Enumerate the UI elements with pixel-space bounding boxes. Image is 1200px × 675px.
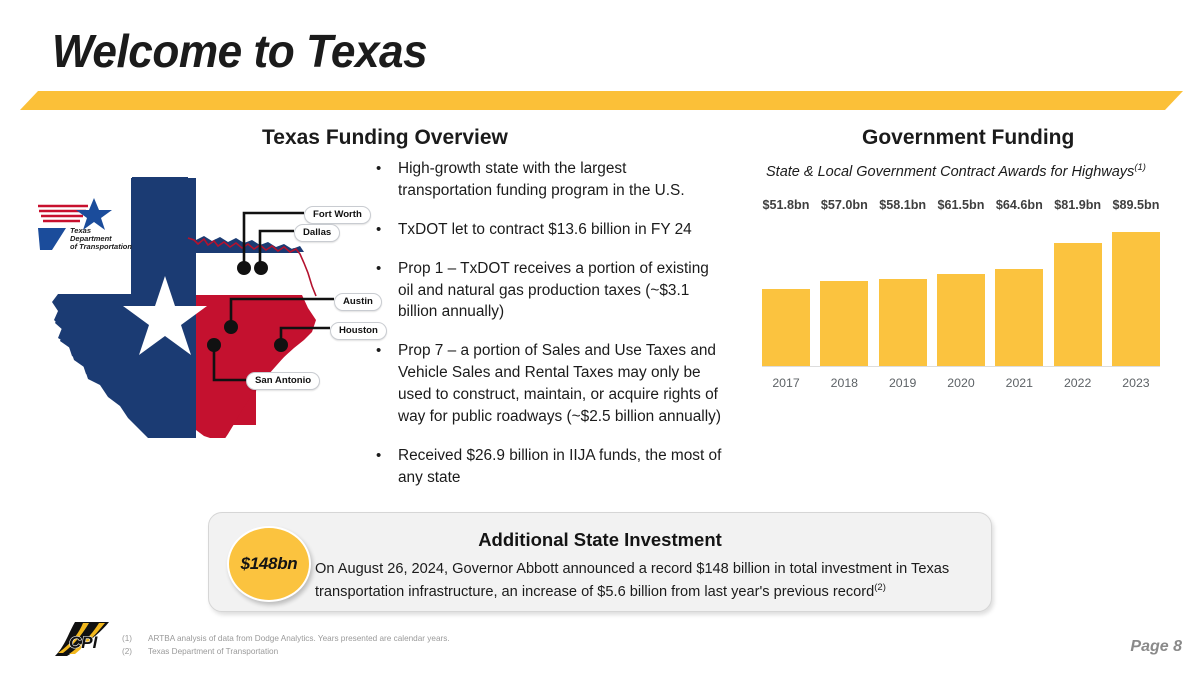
footnote-list: (1) ARTBA analysis of data from Dodge An… [122,633,450,658]
leader-fort-worth [244,213,304,265]
footnote-number: (2) [122,646,148,659]
bullet-dot-icon: • [376,340,398,428]
city-dot-houston [274,338,288,352]
txdot-logo-line3: of Transportation [70,242,132,251]
government-funding-bar-chart: $51.8bn $57.0bn $58.1bn $61.5bn $64.6bn … [762,196,1160,392]
table-row [879,279,927,366]
bar-value-label: $89.5bn [1113,198,1160,212]
bar-column: $51.8bn [762,216,810,366]
chart-x-axis-line [762,366,1160,367]
bar-column: $89.5bn [1112,216,1160,366]
city-label-austin: Austin [334,293,382,311]
footnote-item: (2) Texas Department of Transportation [122,646,450,659]
footnote-text: ARTBA analysis of data from Dodge Analyt… [148,633,450,646]
callout-body-superscript: (2) [874,582,886,593]
list-item: • Received $26.9 billion in IIJA funds, … [376,445,724,489]
x-tick-label: 2022 [1054,376,1102,390]
list-item: • High-growth state with the largest tra… [376,158,724,202]
city-dot-san-antonio [207,338,221,352]
texas-navy-fill-block [131,178,196,296]
bar-column: $58.1bn [879,216,927,366]
bar-value-label: $58.1bn [879,198,926,212]
bar-value-label: $61.5bn [938,198,985,212]
x-tick-label: 2019 [879,376,927,390]
chart-subtitle-superscript: (1) [1134,162,1146,173]
x-tick-label: 2020 [937,376,985,390]
x-tick-label: 2018 [820,376,868,390]
bullet-dot-icon: • [376,219,398,241]
footnote-text: Texas Department of Transportation [148,646,278,659]
city-dot-austin [224,320,238,334]
chart-plot-area: $51.8bn $57.0bn $58.1bn $61.5bn $64.6bn … [762,216,1160,366]
list-item: • Prop 7 – a portion of Sales and Use Ta… [376,340,724,428]
bullet-dot-icon: • [376,158,398,202]
page-number: Page 8 [1130,638,1182,656]
footnote-item: (1) ARTBA analysis of data from Dodge An… [122,633,450,646]
bar-column: $57.0bn [820,216,868,366]
bullet-text: High-growth state with the largest trans… [398,158,724,202]
txdot-stripes [38,206,88,221]
city-dot-dallas [254,261,268,275]
bullet-text: TxDOT let to contract $13.6 billion in F… [398,219,724,241]
chart-x-tick-labels: 2017 2018 2019 2020 2021 2022 2023 [762,376,1160,390]
chart-title: Government Funding [862,126,1074,150]
bar-value-label: $51.8bn [763,198,810,212]
cpi-logo: CPI [53,620,125,660]
x-tick-label: 2023 [1112,376,1160,390]
overview-heading: Texas Funding Overview [262,126,508,150]
list-item: • TxDOT let to contract $13.6 billion in… [376,219,724,241]
bullet-text: Prop 7 – a portion of Sales and Use Taxe… [398,340,724,428]
x-tick-label: 2017 [762,376,810,390]
title-accent-bar [20,91,1183,110]
bar-column: $81.9bn [1054,216,1102,366]
txdot-swoosh [38,228,66,250]
table-row [937,274,985,366]
additional-state-investment-callout: $148bn Additional State Investment On Au… [208,512,992,612]
bar-value-label: $64.6bn [996,198,1043,212]
city-label-fort-worth: Fort Worth [304,206,371,224]
bullet-dot-icon: • [376,445,398,489]
bar-column: $61.5bn [937,216,985,366]
table-row [1054,243,1102,366]
city-label-dallas: Dallas [294,224,340,242]
texas-map: Texas Department of Transportation Fort … [28,168,378,438]
table-row [1112,232,1160,366]
table-row [995,269,1043,366]
bullet-dot-icon: • [376,258,398,324]
callout-body: On August 26, 2024, Governor Abbott anno… [315,558,977,603]
x-tick-label: 2021 [995,376,1043,390]
cpi-logo-text: CPI [69,633,99,652]
city-dot-fort-worth [237,261,251,275]
chart-subtitle: State & Local Government Contract Awards… [766,162,1146,180]
table-row [820,281,868,366]
page-title: Welcome to Texas [52,24,427,78]
callout-body-text: On August 26, 2024, Governor Abbott anno… [315,561,949,600]
city-label-san-antonio: San Antonio [246,372,320,390]
list-item: • Prop 1 – TxDOT receives a portion of e… [376,258,724,324]
bullet-text: Prop 1 – TxDOT receives a portion of exi… [398,258,724,324]
callout-title: Additional State Investment [209,529,991,551]
table-row [762,289,810,366]
chart-subtitle-text: State & Local Government Contract Awards… [766,164,1134,180]
bar-column: $64.6bn [995,216,1043,366]
overview-bullet-list: • High-growth state with the largest tra… [376,158,724,506]
footnote-number: (1) [122,633,148,646]
bar-value-label: $81.9bn [1054,198,1101,212]
txdot-logo: Texas Department of Transportation [36,196,132,254]
bar-value-label: $57.0bn [821,198,868,212]
bullet-text: Received $26.9 billion in IIJA funds, th… [398,445,724,489]
